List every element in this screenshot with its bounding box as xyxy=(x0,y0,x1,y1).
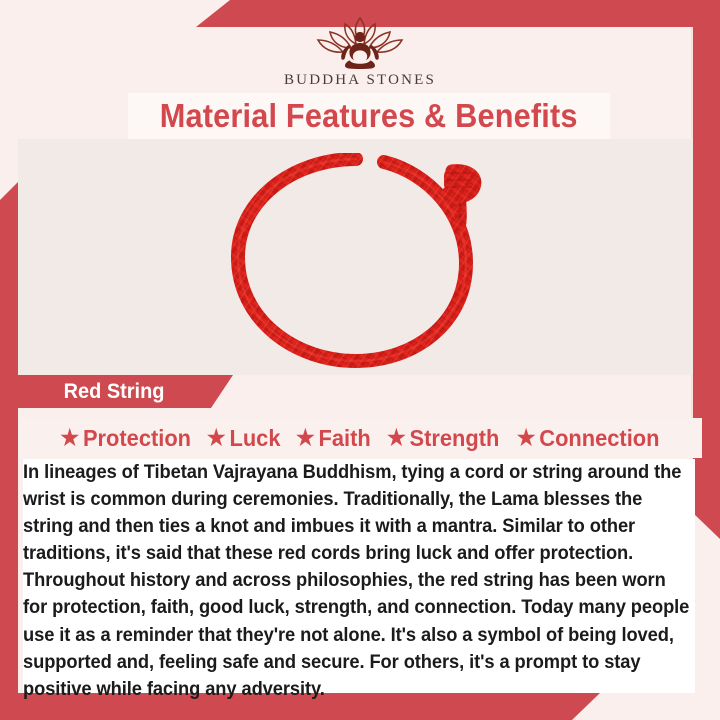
red-braided-cord-bracelet xyxy=(216,153,496,368)
star-icon: ★ xyxy=(207,427,226,449)
product-label-text: Red String xyxy=(18,380,164,404)
star-icon: ★ xyxy=(386,427,405,449)
benefit-label: Strength xyxy=(409,425,499,452)
product-image-panel xyxy=(18,139,693,375)
benefit-connection: ★ Connection xyxy=(517,425,660,452)
infographic-poster: BUDDHA STONES Material Features & Benefi… xyxy=(0,0,720,720)
brand-name: BUDDHA STONES xyxy=(284,72,436,89)
benefit-protection: ★ Protection xyxy=(60,425,191,452)
benefit-label: Connection xyxy=(539,425,659,452)
benefits-row: ★ Protection ★ Luck ★ Faith ★ Strength ★… xyxy=(18,418,702,458)
page-title: Material Features & Benefits xyxy=(160,97,578,135)
star-icon: ★ xyxy=(517,427,536,449)
benefit-faith: ★ Faith xyxy=(296,425,371,452)
brand-header: BUDDHA STONES xyxy=(0,14,720,94)
frame-band-left xyxy=(0,182,18,702)
title-banner: Material Features & Benefits xyxy=(128,93,610,139)
description-text: In lineages of Tibetan Vajrayana Buddhis… xyxy=(23,459,698,703)
product-label-ribbon: Red String xyxy=(18,375,233,408)
benefit-label: Faith xyxy=(318,425,370,452)
benefit-luck: ★ Luck xyxy=(207,425,281,452)
benefit-strength: ★ Strength xyxy=(386,425,498,452)
star-icon: ★ xyxy=(60,427,79,449)
lotus-meditation-figure-icon xyxy=(304,14,416,70)
star-icon: ★ xyxy=(296,427,315,449)
description-panel: In lineages of Tibetan Vajrayana Buddhis… xyxy=(23,459,695,693)
benefit-label: Luck xyxy=(230,425,281,452)
benefit-label: Protection xyxy=(83,425,191,452)
